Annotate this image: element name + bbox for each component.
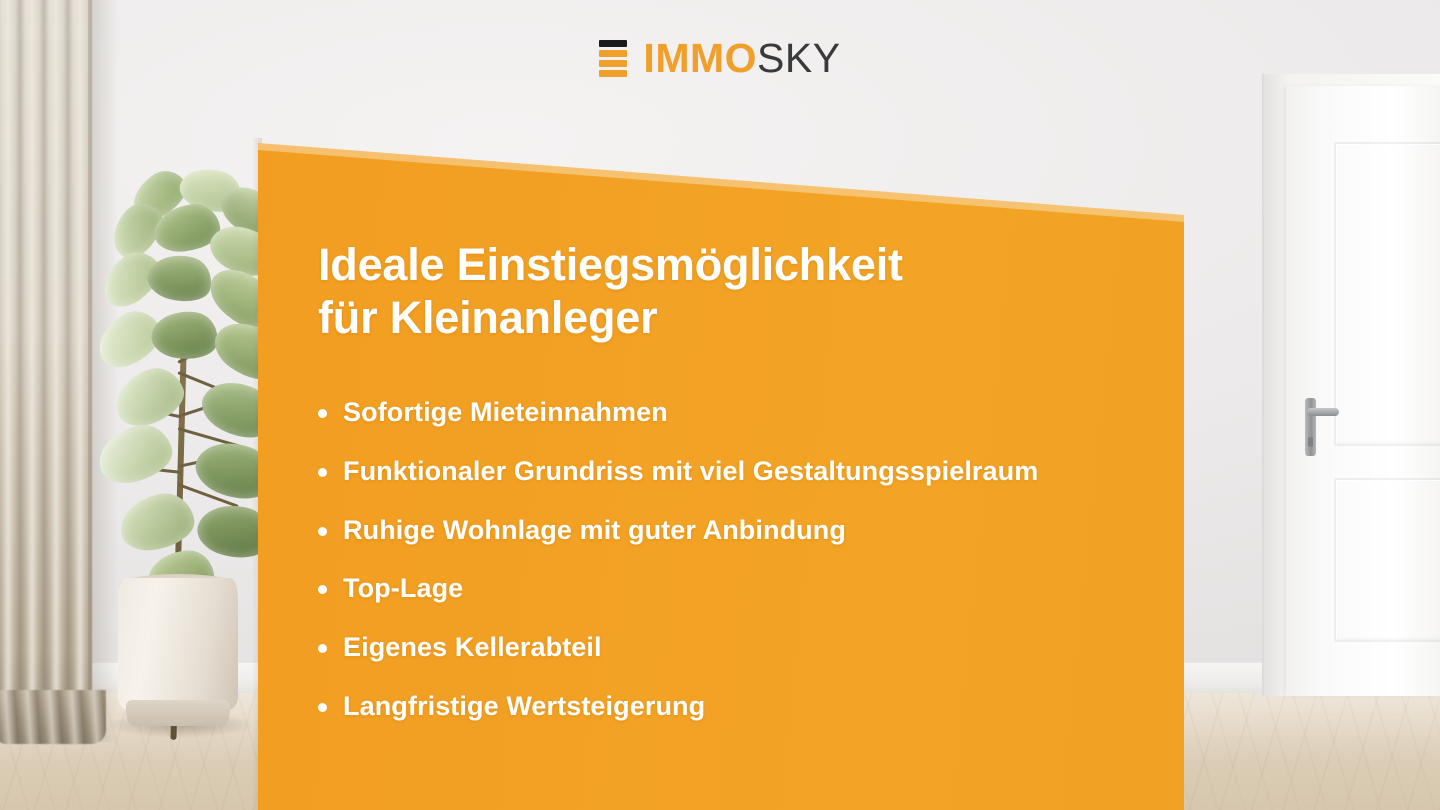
bullet-dot-icon [318,527,327,536]
logo-bar-2 [599,50,627,57]
logo-bar-3 [599,60,627,67]
bullet-dot-icon [318,409,327,418]
door-panel-bottom [1334,478,1440,642]
slide-canvas: IMMOSKY Ideale Einstiegsmöglichkeit für … [0,0,1440,810]
brand-wordmark: IMMOSKY [643,38,840,79]
list-item: Sofortige Mieteinnahmen [318,396,1148,430]
plant-leaf [116,489,198,555]
immosky-bars-icon [599,40,627,77]
pot-foot [126,700,230,726]
brand-name-secondary: SKY [757,35,841,81]
list-item-label: Eigenes Kellerabteil [343,631,602,665]
list-item-label: Top-Lage [343,572,463,606]
list-item: Ruhige Wohnlage mit guter Anbindung [318,514,1148,548]
page-title: Ideale Einstiegsmöglichkeit für Kleinanl… [318,238,1148,344]
curtain [0,0,92,738]
headline-line-2: für Kleinanleger [318,291,1148,344]
logo-bar-4 [599,70,627,77]
plant-leaf [143,248,216,308]
list-item-label: Sofortige Mieteinnahmen [343,396,668,430]
panel-content: Ideale Einstiegsmöglichkeit für Kleinanl… [318,238,1148,724]
headline-line-1: Ideale Einstiegsmöglichkeit [318,238,1148,291]
bullet-dot-icon [318,644,327,653]
bullet-dot-icon [318,585,327,594]
door-handle-icon [1307,408,1339,416]
plant-leaf [149,307,221,364]
plant-leaf [93,419,178,489]
feature-list: Sofortige Mieteinnahmen Funktionaler Gru… [318,396,1148,724]
list-item: Langfristige Wertsteigerung [318,690,1148,724]
planter-pot [118,578,238,710]
list-item-label: Langfristige Wertsteigerung [343,690,705,724]
door-keyhole-icon [1308,437,1313,447]
list-item: Top-Lage [318,572,1148,606]
curtain-hem [0,690,106,744]
list-item-label: Ruhige Wohnlage mit guter Anbindung [343,514,846,548]
list-item: Eigenes Kellerabteil [318,631,1148,665]
list-item: Funktionaler Grundriss mit viel Gestaltu… [318,455,1148,489]
logo-bar-1 [599,40,627,47]
bullet-dot-icon [318,468,327,477]
list-item-label: Funktionaler Grundriss mit viel Gestaltu… [343,455,1038,489]
brand-name-primary: IMMO [643,35,757,81]
brand-logo: IMMOSKY [0,38,1440,79]
door-handle-plate-icon [1305,398,1316,456]
bullet-dot-icon [318,703,327,712]
door-panel-top [1334,142,1440,446]
